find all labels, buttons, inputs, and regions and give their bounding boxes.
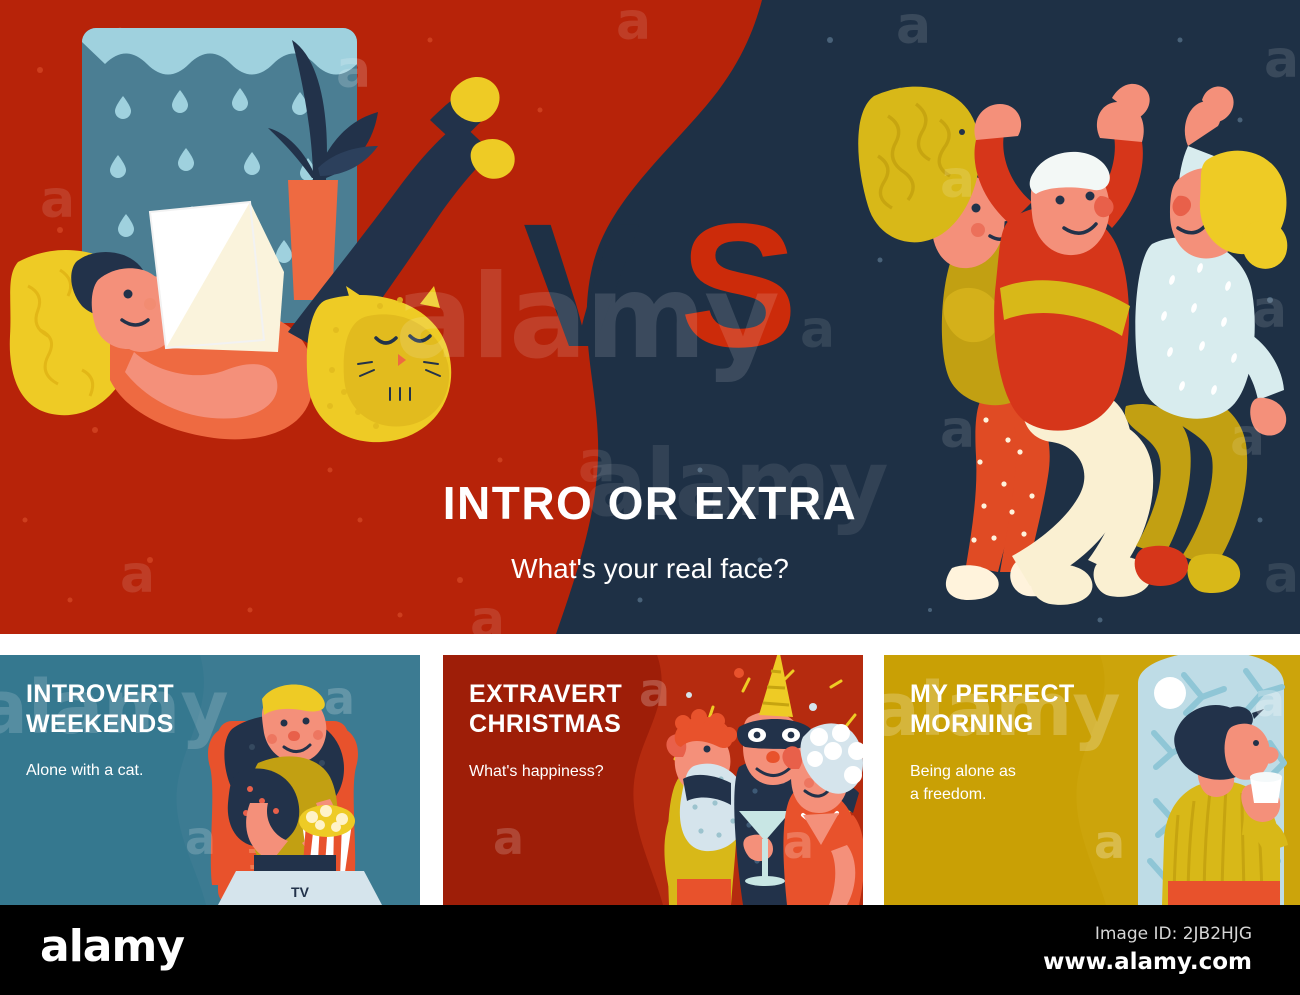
card-subtitle: What's happiness?: [469, 760, 604, 783]
cards-row: TV alamy a a INTROVERT WEEKENDS Alone wi…: [0, 655, 1300, 905]
card1-laptop-label: TV: [291, 884, 310, 900]
card-extravert-christmas[interactable]: a a a EXTRAVERT CHRISTMAS What's happine…: [443, 655, 863, 905]
vs-left-letter: V: [523, 198, 636, 374]
alamy-footer-bar: alamy Image ID: 2JB2HJG www.alamy.com: [0, 905, 1300, 995]
card-my-perfect-morning[interactable]: alamy a a MY PERFECT MORNING Being alone…: [884, 655, 1300, 905]
hero-banner: V S a a a a a a a a a a a a a a alamy al…: [0, 0, 1300, 634]
card-title: INTROVERT WEEKENDS: [26, 679, 174, 739]
vs-text: V S: [515, 198, 815, 388]
card-title: EXTRAVERT CHRISTMAS: [469, 679, 622, 739]
card-subtitle: Alone with a cat.: [26, 759, 143, 782]
hero-title: INTRO OR EXTRA: [0, 476, 1300, 530]
card-introvert-weekends[interactable]: TV alamy a a INTROVERT WEEKENDS Alone wi…: [0, 655, 420, 905]
vs-right-letter: S: [680, 198, 793, 374]
alamy-url[interactable]: www.alamy.com: [1043, 949, 1252, 975]
card-title: MY PERFECT MORNING: [910, 679, 1075, 739]
hero-subtitle: What's your real face?: [0, 553, 1300, 585]
image-id-label: Image ID: 2JB2HJG: [1095, 924, 1252, 944]
card-subtitle: Being alone as a freedom.: [910, 760, 1016, 806]
poster-root: V S a a a a a a a a a a a a a a alamy al…: [0, 0, 1300, 995]
alamy-logo: alamy: [40, 925, 184, 969]
